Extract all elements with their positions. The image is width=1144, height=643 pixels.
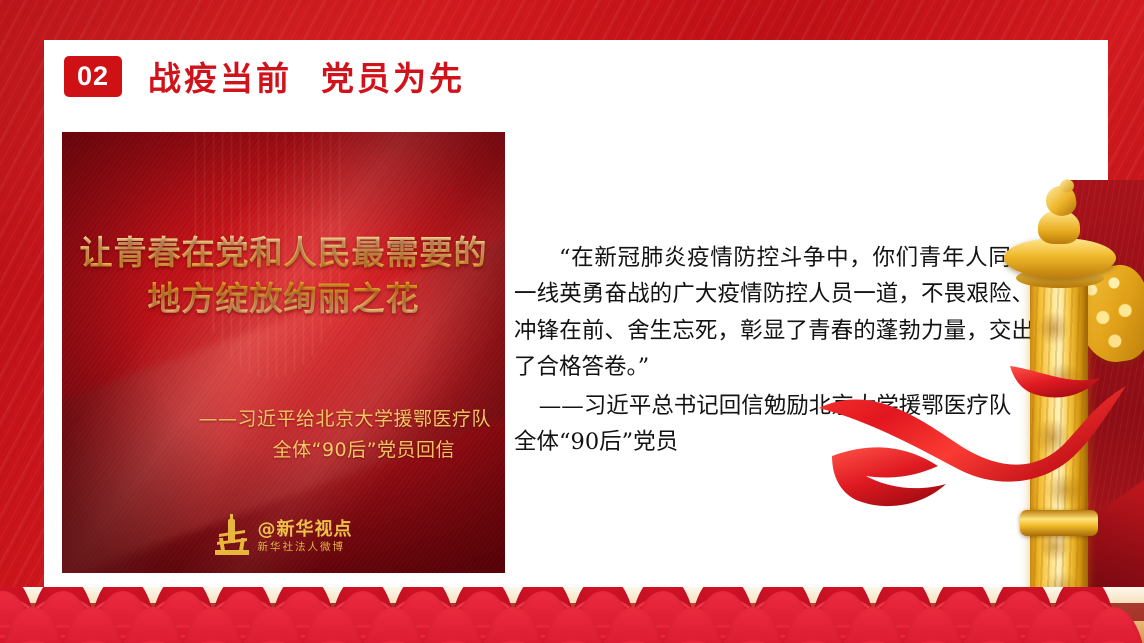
poster-headline: 让青春在党和人民最需要的 地方绽放绚丽之花 — [62, 230, 505, 321]
content-panel: 02 战疫当前 党员为先 让青春在党和人民最需要的 地方绽放绚丽之花 ——习近平… — [44, 40, 1108, 612]
wave-row-front — [0, 607, 1144, 643]
poster-vignette — [62, 132, 505, 573]
poster-headline-line2: 地方绽放绚丽之花 — [62, 276, 505, 322]
poster-headline-line1: 让青春在党和人民最需要的 — [80, 233, 488, 272]
xinhua-logo: @新华视点 新华社法人微博 — [62, 519, 505, 555]
quote-source-line2: 全体“90后”党员 — [514, 424, 1034, 460]
poster-attribution: ——习近平给北京大学援鄂医疗队 全体“90后”党员回信 — [62, 404, 491, 466]
wave-pattern-band — [0, 587, 1144, 643]
quote-block: “在新冠肺炎疫情防控斗争中，你们青年人同在一线英勇奋战的广大疫情防控人员一道，不… — [514, 240, 1034, 461]
section-number-badge: 02 — [64, 56, 122, 97]
quote-source-line1: ——习近平总书记回信勉励北京大学援鄂医疗队 — [539, 393, 1012, 419]
page-title: 战疫当前 党员为先 — [148, 52, 465, 100]
quote-source: ——习近平总书记回信勉励北京大学援鄂医疗队 全体“90后”党员 — [514, 388, 1034, 461]
poster-attribution-line1: ——习近平给北京大学援鄂医疗队 — [198, 408, 491, 430]
xinhua-logo-subtitle: 新华社法人微博 — [258, 542, 353, 554]
xinhua-tower-icon — [215, 519, 249, 555]
slide-header: 02 战疫当前 党员为先 — [64, 52, 465, 100]
xinhua-logo-name: @新华视点 — [258, 519, 353, 540]
poster-image-card[interactable]: 让青春在党和人民最需要的 地方绽放绚丽之花 ——习近平给北京大学援鄂医疗队 全体… — [62, 132, 505, 573]
quote-body: “在新冠肺炎疫情防控斗争中，你们青年人同在一线英勇奋战的广大疫情防控人员一道，不… — [514, 240, 1034, 386]
poster-attribution-line2: 全体“90后”党员回信 — [62, 435, 491, 466]
xinhua-logo-text: @新华视点 新华社法人微博 — [258, 520, 353, 553]
